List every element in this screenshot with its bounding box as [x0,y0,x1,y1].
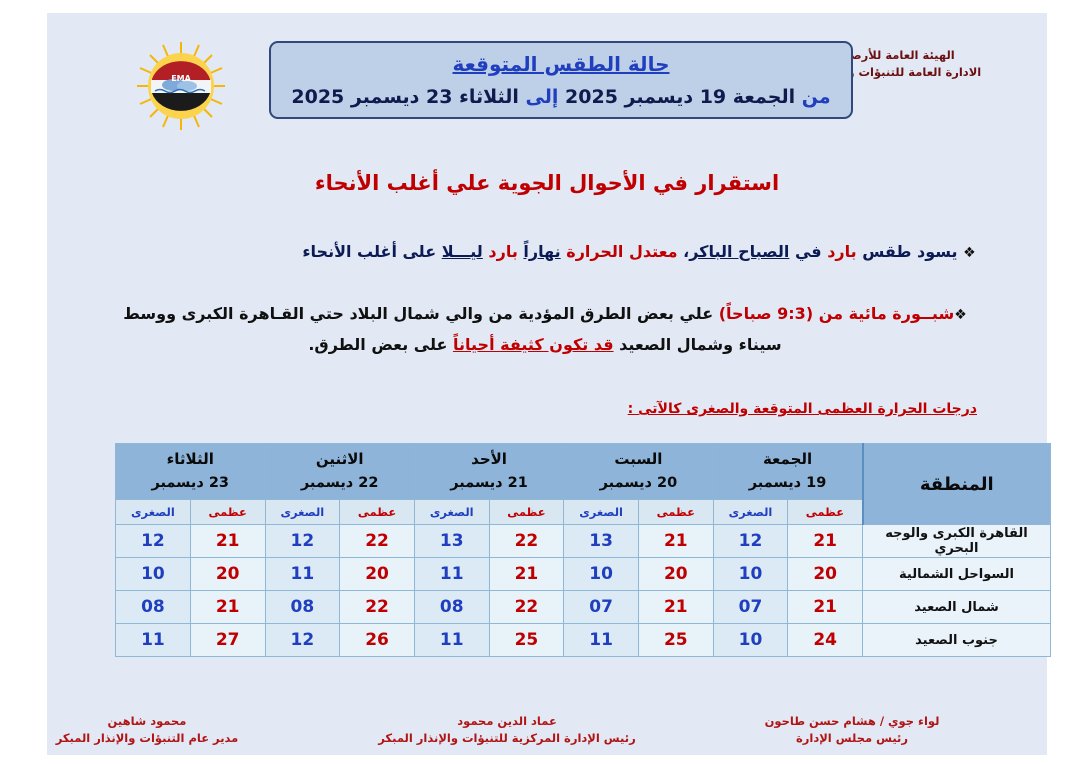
cell-max-r3d0: 24 [788,624,863,657]
table-row: جنوب الصعيد 24 10 25 11 25 11 26 12 27 1… [116,624,1051,657]
subheader-max-3: عظمى [340,500,415,525]
cell-min-r1d0: 10 [713,558,788,591]
signature-board-chairman: لواء جوي / هشام حسن طاحون رئيس مجلس الإد… [712,713,992,747]
signature-name-2: لواء جوي / هشام حسن طاحون [712,713,992,730]
row-region-3: جنوب الصعيد [863,624,1051,657]
cell-max-r0d2: 22 [489,525,564,558]
day-date-3: 22 ديسمبر [301,475,379,491]
bullet-marker-icon: ❖ [963,245,976,261]
date-range-connector: إلى [526,86,559,108]
date-range-from: الجمعة 19 ديسمبر 2025 [565,86,795,108]
cell-max-r1d0: 20 [788,558,863,591]
day-date-4: 23 ديسمبر [151,475,229,491]
signature-title-1: رئيس الإدارة المركزية للتنبؤات والإنذار … [367,730,647,747]
header-day-2: الأحد 21 ديسمبر [414,444,563,500]
cell-max-r0d4: 21 [190,525,265,558]
cell-max-r3d3: 26 [340,624,415,657]
table-row: القاهرة الكبرى والوجه البحري 21 12 21 13… [116,525,1051,558]
cell-max-r1d1: 20 [638,558,713,591]
table-header-row-days: المنطقة الجمعة 19 ديسمبر السبت 20 ديسمبر… [116,444,1051,500]
cell-max-r3d1: 25 [638,624,713,657]
cell-min-r2d4: 08 [116,591,191,624]
bullet-1-part-7: نهاراً [523,242,560,261]
subheader-max-0: عظمى [788,500,863,525]
cell-min-r1d2: 11 [414,558,489,591]
cell-min-r3d3: 12 [265,624,340,657]
row-region-2: شمال الصعيد [863,591,1051,624]
date-range-prefix: من [802,86,831,108]
bullet-1-part-9: بارد [488,242,517,261]
bullet-item-temperature: ❖ يسود طقس بارد في الصباح الباكر، معتدل … [289,239,989,266]
cell-max-r2d4: 21 [190,591,265,624]
signature-title-0: مدير عام التنبؤات والإنذار المبكر [7,730,287,747]
day-name-3: الاثنين [316,450,364,468]
date-range-to: الثلاثاء 23 ديسمبر 2025 [291,86,519,108]
cell-min-r3d2: 11 [414,624,489,657]
cell-max-r2d3: 22 [340,591,415,624]
bullet-2-part-3: على بعض الطرق. [308,335,453,354]
signature-title-2: رئيس مجلس الإدارة [712,730,992,747]
bullet-1-part-4: ، [678,242,690,261]
subheader-min-1: الصغرى [564,500,639,525]
signature-forecast-director: محمود شاهين مدير عام التنبؤات والإنذار ا… [7,713,287,747]
table-row: السواحل الشمالية 20 10 20 10 21 11 20 11… [116,558,1051,591]
subheader-min-4: الصغرى [116,500,191,525]
cell-min-r1d1: 10 [564,558,639,591]
document-sheet: EMA الهيئة العامة للأرصاد الجوية الادارة… [47,13,1047,755]
cell-max-r3d2: 25 [489,624,564,657]
cell-max-r0d1: 21 [638,525,713,558]
bullet-1-part-0: يسود طقس [857,242,958,261]
bullet-1-part-11: ليـــلا [442,242,483,261]
signature-name-1: عماد الدين محمود [367,713,647,730]
day-date-2: 21 ديسمبر [450,475,528,491]
header-day-4: الثلاثاء 23 ديسمبر [116,444,266,500]
forecast-document-page: EMA الهيئة العامة للأرصاد الجوية الادارة… [0,0,1080,765]
cell-min-r2d2: 08 [414,591,489,624]
forecast-headline: استقرار في الأحوال الجوية علي أغلب الأنح… [47,171,1047,195]
bullet-1-part-1: بارد [827,242,856,261]
day-name-1: السبت [614,450,662,468]
cell-max-r2d2: 22 [489,591,564,624]
cell-min-r3d1: 11 [564,624,639,657]
cell-min-r0d1: 13 [564,525,639,558]
temperature-forecast-table: المنطقة الجمعة 19 ديسمبر السبت 20 ديسمبر… [115,443,1051,657]
cell-min-r1d3: 11 [265,558,340,591]
day-date-1: 20 ديسمبر [600,475,678,491]
cell-min-r0d0: 12 [713,525,788,558]
cell-min-r0d2: 13 [414,525,489,558]
cell-max-r1d4: 20 [190,558,265,591]
cell-max-r2d0: 21 [788,591,863,624]
subheader-min-0: الصغرى [713,500,788,525]
bullet-1-part-5: معتدل الحرارة [566,242,677,261]
cell-max-r0d0: 21 [788,525,863,558]
subheader-max-4: عظمى [190,500,265,525]
subheader-min-3: الصغرى [265,500,340,525]
cell-max-r0d3: 22 [340,525,415,558]
subheader-max-1: عظمى [638,500,713,525]
cell-min-r0d3: 12 [265,525,340,558]
ema-sun-logo-icon: EMA [129,39,233,133]
table-caption: درجات الحرارة العظمى المتوقعة والصغرى كا… [628,401,977,417]
cell-min-r2d0: 07 [713,591,788,624]
day-name-2: الأحد [471,450,507,468]
bullet-2-part-0: شبــورة مائية من (9:3 صباحاً) [719,304,954,323]
cell-max-r1d2: 21 [489,558,564,591]
cell-min-r2d1: 07 [564,591,639,624]
cell-min-r3d0: 10 [713,624,788,657]
header-region: المنطقة [863,444,1051,525]
cell-max-r3d4: 27 [190,624,265,657]
table-row: شمال الصعيد 21 07 21 07 22 08 22 08 21 0… [116,591,1051,624]
header-day-0: الجمعة 19 ديسمبر [713,444,862,500]
bullet-1-part-3: الصباح الباكر [689,242,789,261]
cell-min-r0d4: 12 [116,525,191,558]
header-day-3: الاثنين 22 ديسمبر [265,444,414,500]
row-region-0: القاهرة الكبرى والوجه البحري [863,525,1051,558]
row-region-1: السواحل الشمالية [863,558,1051,591]
subheader-min-2: الصغرى [414,500,489,525]
title-box: حالة الطقس المتوقعة من الجمعة 19 ديسمبر … [269,41,853,119]
day-date-0: 19 ديسمبر [749,475,827,491]
bullet-1-part-12: على أغلب الأنحاء [302,242,441,261]
day-name-4: الثلاثاء [167,450,214,468]
bullet-item-fog: ❖شبــورة مائية من (9:3 صباحاً) علي بعض ا… [115,299,975,360]
cell-min-r3d4: 11 [116,624,191,657]
signature-name-0: محمود شاهين [7,713,287,730]
cell-max-r2d1: 21 [638,591,713,624]
bullet-marker-icon: ❖ [954,307,967,323]
cell-min-r1d4: 10 [116,558,191,591]
header-day-1: السبت 20 ديسمبر [564,444,713,500]
document-title: حالة الطقس المتوقعة [271,49,851,79]
svg-text:EMA: EMA [171,74,191,83]
day-name-0: الجمعة [763,450,812,468]
cell-min-r2d3: 08 [265,591,340,624]
date-range: من الجمعة 19 ديسمبر 2025 إلى الثلاثاء 23… [271,82,851,112]
bullet-1-part-2: في [789,242,827,261]
signature-central-admin-head: عماد الدين محمود رئيس الإدارة المركزية ل… [367,713,647,747]
cell-max-r1d3: 20 [340,558,415,591]
bullet-2-part-2: قد تكون كثيفة أحياناً [453,335,614,354]
subheader-max-2: عظمى [489,500,564,525]
